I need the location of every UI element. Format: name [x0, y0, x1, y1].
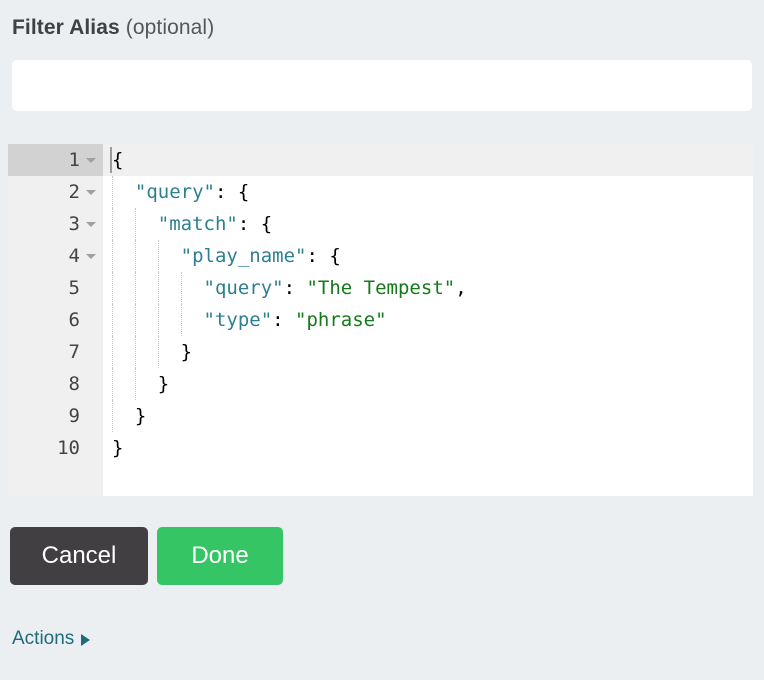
indent-guide: [135, 208, 136, 240]
indent-guide: [158, 240, 159, 272]
triangle-right-icon: [81, 634, 90, 646]
code-token-key: "match": [158, 213, 238, 235]
gutter-line-number[interactable]: 1: [8, 144, 103, 176]
code-token-punct: {: [112, 149, 123, 171]
indent-guide: [135, 336, 136, 368]
code-line[interactable]: }: [103, 336, 753, 368]
code-line[interactable]: }: [103, 400, 753, 432]
gutter-line-number[interactable]: 2: [8, 176, 103, 208]
indent-guide: [112, 336, 113, 368]
code-token-str: "The Tempest": [306, 277, 455, 299]
gutter-line-number[interactable]: 4: [8, 240, 103, 272]
code-line[interactable]: "query": {: [103, 176, 753, 208]
code-line[interactable]: }: [103, 432, 753, 464]
line-number-text: 4: [69, 245, 80, 267]
indent-guide: [135, 240, 136, 272]
page-title-text: Filter Alias: [12, 16, 120, 39]
gutter-line-number[interactable]: 5: [8, 272, 103, 304]
json-code-editor[interactable]: 12345678910 { "query": { "match": { "pla…: [8, 144, 753, 496]
chevron-down-icon[interactable]: [86, 222, 96, 227]
chevron-down-icon[interactable]: [86, 190, 96, 195]
code-token-punct: }: [112, 405, 146, 427]
code-token-punct: :: [272, 309, 295, 331]
code-line[interactable]: }: [103, 368, 753, 400]
gutter-line-number[interactable]: 8: [8, 368, 103, 400]
code-line[interactable]: "query": "The Tempest",: [103, 272, 753, 304]
editor-gutter[interactable]: 12345678910: [8, 144, 103, 496]
code-token-key: "query": [204, 277, 284, 299]
line-number-text: 8: [69, 373, 80, 395]
line-number-text: 9: [69, 405, 80, 427]
code-token-punct: : {: [215, 181, 249, 203]
indent-guide: [135, 272, 136, 304]
gutter-line-number[interactable]: 6: [8, 304, 103, 336]
code-token-key: "type": [204, 309, 273, 331]
line-number-text: 6: [69, 309, 80, 331]
code-token-punct: : {: [306, 245, 340, 267]
line-number-text: 5: [69, 277, 80, 299]
indent-guide: [158, 304, 159, 336]
line-number-text: 7: [69, 341, 80, 363]
indent-guide: [112, 368, 113, 400]
code-token-str: "phrase": [295, 309, 387, 331]
chevron-down-icon[interactable]: [86, 158, 96, 163]
indent-guide: [181, 304, 182, 336]
code-line[interactable]: "match": {: [103, 208, 753, 240]
gutter-line-number[interactable]: 9: [8, 400, 103, 432]
code-token-punct: }: [112, 341, 192, 363]
code-line[interactable]: "type": "phrase": [103, 304, 753, 336]
done-button[interactable]: Done: [157, 527, 283, 585]
gutter-line-number[interactable]: 3: [8, 208, 103, 240]
gutter-line-number[interactable]: 10: [8, 432, 103, 464]
line-number-text: 10: [57, 437, 80, 459]
code-line[interactable]: {: [103, 144, 753, 176]
code-token-punct: : {: [238, 213, 272, 235]
line-number-text: 2: [69, 181, 80, 203]
cancel-button[interactable]: Cancel: [10, 527, 148, 585]
indent-guide: [112, 304, 113, 336]
indent-guide: [135, 304, 136, 336]
code-token-punct: ,: [455, 277, 466, 299]
indent-guide: [158, 336, 159, 368]
indent-guide: [135, 368, 136, 400]
page-title-optional-note: (optional): [126, 16, 215, 39]
actions-link[interactable]: Actions: [12, 628, 90, 650]
indent-guide: [112, 240, 113, 272]
code-token-key: "query": [135, 181, 215, 203]
gutter-line-number[interactable]: 7: [8, 336, 103, 368]
chevron-down-icon[interactable]: [86, 254, 96, 259]
text-caret: [110, 147, 112, 173]
page-title: Filter Alias (optional): [12, 16, 214, 40]
code-token-punct: [112, 245, 181, 267]
line-number-text: 3: [69, 213, 80, 235]
code-token-key: "play_name": [181, 245, 307, 267]
code-token-punct: [112, 181, 135, 203]
indent-guide: [158, 272, 159, 304]
filter-alias-input[interactable]: [12, 60, 752, 111]
indent-guide: [181, 272, 182, 304]
code-line[interactable]: "play_name": {: [103, 240, 753, 272]
indent-guide: [112, 400, 113, 432]
indent-guide: [112, 272, 113, 304]
code-token-punct: }: [112, 373, 169, 395]
code-token-punct: :: [284, 277, 307, 299]
indent-guide: [112, 176, 113, 208]
actions-link-label: Actions: [12, 628, 74, 650]
code-token-punct: }: [112, 437, 123, 459]
indent-guide: [112, 208, 113, 240]
editor-code-area[interactable]: { "query": { "match": { "play_name": { "…: [103, 144, 753, 496]
line-number-text: 1: [69, 149, 80, 171]
